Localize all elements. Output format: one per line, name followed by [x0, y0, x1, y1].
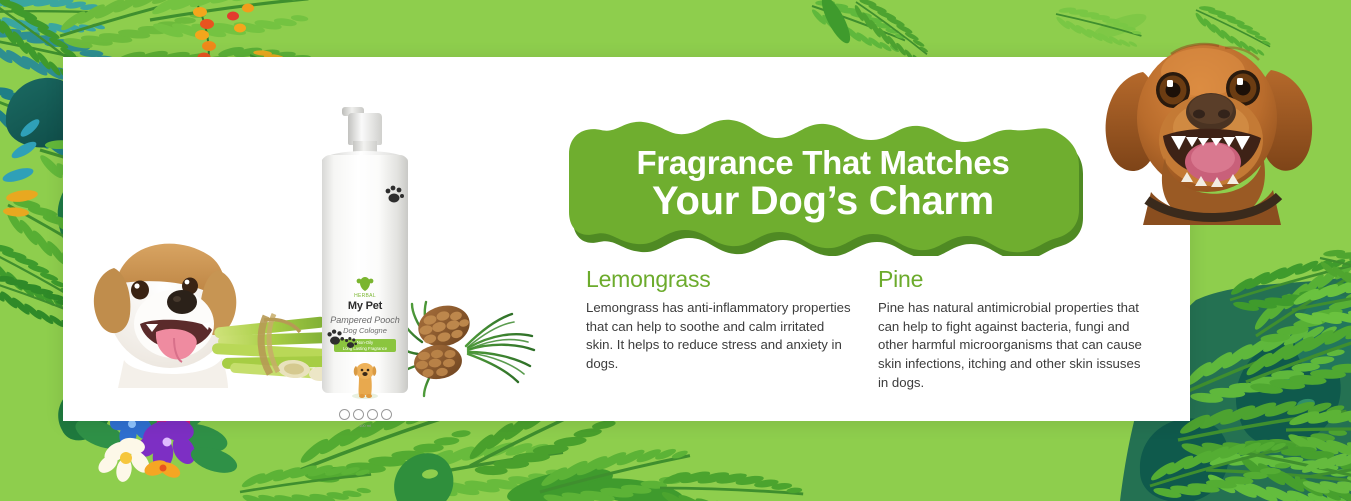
fragrance-description: Pine has natural antimicrobial propertie…	[878, 299, 1146, 393]
headline-text: Fragrance That Matches Your Dog’s Charm	[561, 112, 1085, 256]
fragrance-description: Lemongrass has anti-inflammatory propert…	[586, 299, 854, 374]
dachshund-dog-photo	[1085, 10, 1335, 225]
lemongrass-stalks-prop	[208, 300, 340, 396]
volume-text: 100 ml	[328, 423, 402, 428]
label-dog-illustration	[345, 358, 385, 400]
product-line-1: Pampered Pooch	[328, 315, 402, 325]
pine-cones-prop	[396, 292, 536, 398]
paw-print-icon	[326, 327, 344, 347]
fragrance-title: Pine	[878, 266, 1146, 293]
fragrance-columns: Lemongrass Lemongrass has anti-inflammat…	[586, 266, 1156, 393]
brand-name: My Pet	[328, 300, 402, 312]
brand-mark: HERBAL	[328, 293, 402, 299]
product-bottle: HERBAL My Pet Pampered Pooch Dog Cologne…	[322, 103, 408, 393]
bottle-label: HERBAL My Pet Pampered Pooch Dog Cologne…	[328, 275, 402, 425]
paw-print-icon	[344, 335, 357, 350]
fragrance-title: Lemongrass	[586, 266, 854, 293]
pine-cone-small	[412, 343, 463, 382]
paraben-free-icon	[353, 409, 364, 420]
headline-line-1: Fragrance That Matches	[636, 146, 1009, 180]
fragrance-lemongrass: Lemongrass Lemongrass has anti-inflammat…	[586, 266, 854, 393]
headline-banner: Fragrance That Matches Your Dog’s Charm	[561, 112, 1085, 256]
brand-logo-icon	[352, 275, 378, 293]
ph-balanced-icon	[381, 409, 392, 420]
certification-icons	[328, 409, 402, 420]
promo-banner: HERBAL My Pet Pampered Pooch Dog Cologne…	[0, 0, 1351, 501]
pine-cone-large	[414, 300, 474, 351]
paw-print-icon	[384, 183, 404, 205]
cruelty-free-icon	[339, 409, 350, 420]
sulphate-free-icon	[367, 409, 378, 420]
bottle-body: HERBAL My Pet Pampered Pooch Dog Cologne…	[322, 155, 408, 393]
fragrance-pine: Pine Pine has natural antimicrobial prop…	[878, 266, 1146, 393]
headline-line-2: Your Dog’s Charm	[652, 181, 994, 222]
